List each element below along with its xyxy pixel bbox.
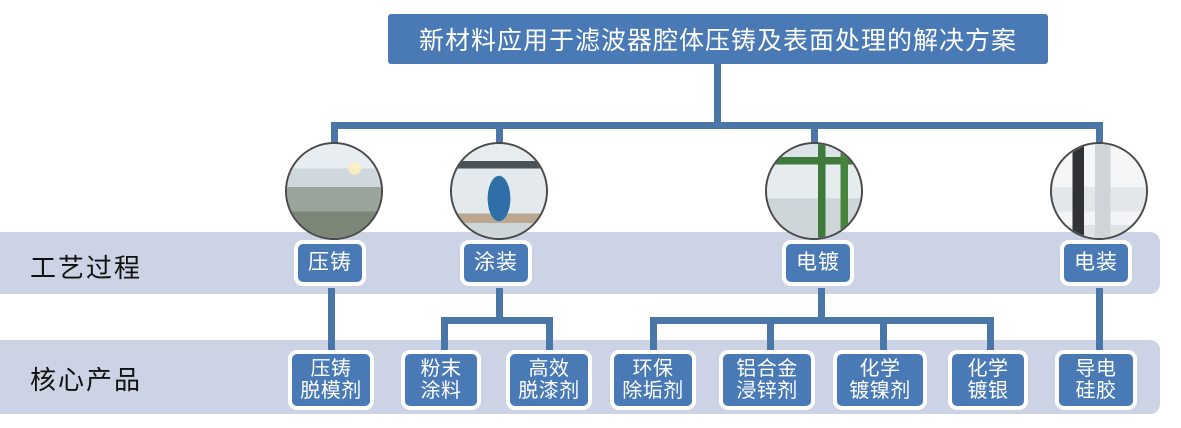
product-node-line1: 压铸 xyxy=(311,358,352,380)
product-node-line2: 镀镍剂 xyxy=(849,380,911,402)
plating-drop-3 xyxy=(880,317,887,352)
product-node-line1: 高效 xyxy=(529,358,570,380)
product-node-line1: 环保 xyxy=(633,358,674,380)
coating-drop-2 xyxy=(546,317,553,352)
coating-spray-booth-photo xyxy=(450,142,548,240)
process-to-product-connector-assembly xyxy=(1096,288,1103,350)
product-row-label: 核心产品 xyxy=(30,360,142,397)
diagram-canvas: 工艺过程 核心产品 新材料应用于滤波器腔体压铸及表面处理的解决方案 xyxy=(0,0,1181,428)
bus-drop-2 xyxy=(496,122,503,144)
coating-drop-1 xyxy=(441,317,448,352)
process-node-electronic-assembly[interactable]: 电装 xyxy=(1060,240,1132,286)
product-node-line2: 除垢剂 xyxy=(622,380,684,402)
bus-drop-3 xyxy=(811,122,818,144)
plating-drop-1 xyxy=(650,317,657,352)
process-bus-connector xyxy=(331,122,1103,129)
product-node-line2: 浸锌剂 xyxy=(736,380,798,402)
product-node-line2: 脱模剂 xyxy=(300,380,362,402)
process-node-diecasting[interactable]: 压铸 xyxy=(294,240,366,286)
process-row-label: 工艺过程 xyxy=(30,248,142,285)
product-node-line2: 镀银 xyxy=(968,380,1009,402)
die-casting-workshop-photo xyxy=(285,142,383,240)
process-to-product-connector-diecast xyxy=(328,288,335,350)
product-node-line1: 铝合金 xyxy=(736,358,798,380)
process-node-label: 压铸 xyxy=(308,251,352,275)
product-node-electroless-silver[interactable]: 化学 镀银 xyxy=(948,350,1028,410)
product-node-powder-coating[interactable]: 粉末 涂料 xyxy=(401,350,481,410)
plating-drop-2 xyxy=(767,317,774,352)
product-node-line2: 脱漆剂 xyxy=(518,380,580,402)
plating-drop-4 xyxy=(987,317,994,352)
process-node-coating[interactable]: 涂装 xyxy=(460,240,532,286)
product-node-paint-stripper[interactable]: 高效 脱漆剂 xyxy=(506,350,592,410)
product-node-line2: 涂料 xyxy=(421,380,462,402)
process-node-label: 电装 xyxy=(1074,251,1118,275)
product-node-line1: 粉末 xyxy=(421,358,462,380)
product-node-release-agent[interactable]: 压铸 脱模剂 xyxy=(288,350,374,410)
process-node-electroplating[interactable]: 电镀 xyxy=(782,240,854,286)
product-node-line1: 化学 xyxy=(968,358,1009,380)
bus-drop-1 xyxy=(331,122,338,144)
product-node-zincate[interactable]: 铝合金 浸锌剂 xyxy=(719,350,815,410)
plating-fork-bar xyxy=(650,317,994,324)
product-node-line2: 硅胶 xyxy=(1076,380,1117,402)
electronic-assembly-robot-photo xyxy=(1050,142,1148,240)
process-row-band xyxy=(0,232,1160,294)
product-node-electroless-nickel[interactable]: 化学 镀镍剂 xyxy=(833,350,927,410)
coating-stem xyxy=(496,288,503,320)
plating-stem xyxy=(818,288,825,320)
electroplating-line-photo xyxy=(765,142,863,240)
coating-fork-bar xyxy=(441,317,553,324)
product-node-line1: 导电 xyxy=(1076,358,1117,380)
process-node-label: 电镀 xyxy=(796,251,840,275)
bus-drop-4 xyxy=(1096,122,1103,144)
product-node-descaler[interactable]: 环保 除垢剂 xyxy=(610,350,696,410)
trunk-connector xyxy=(714,64,721,122)
product-node-conductive-silicone[interactable]: 导电 硅胶 xyxy=(1055,350,1137,410)
diagram-title: 新材料应用于滤波器腔体压铸及表面处理的解决方案 xyxy=(388,14,1048,64)
process-node-label: 涂装 xyxy=(474,251,518,275)
product-node-line1: 化学 xyxy=(860,358,901,380)
